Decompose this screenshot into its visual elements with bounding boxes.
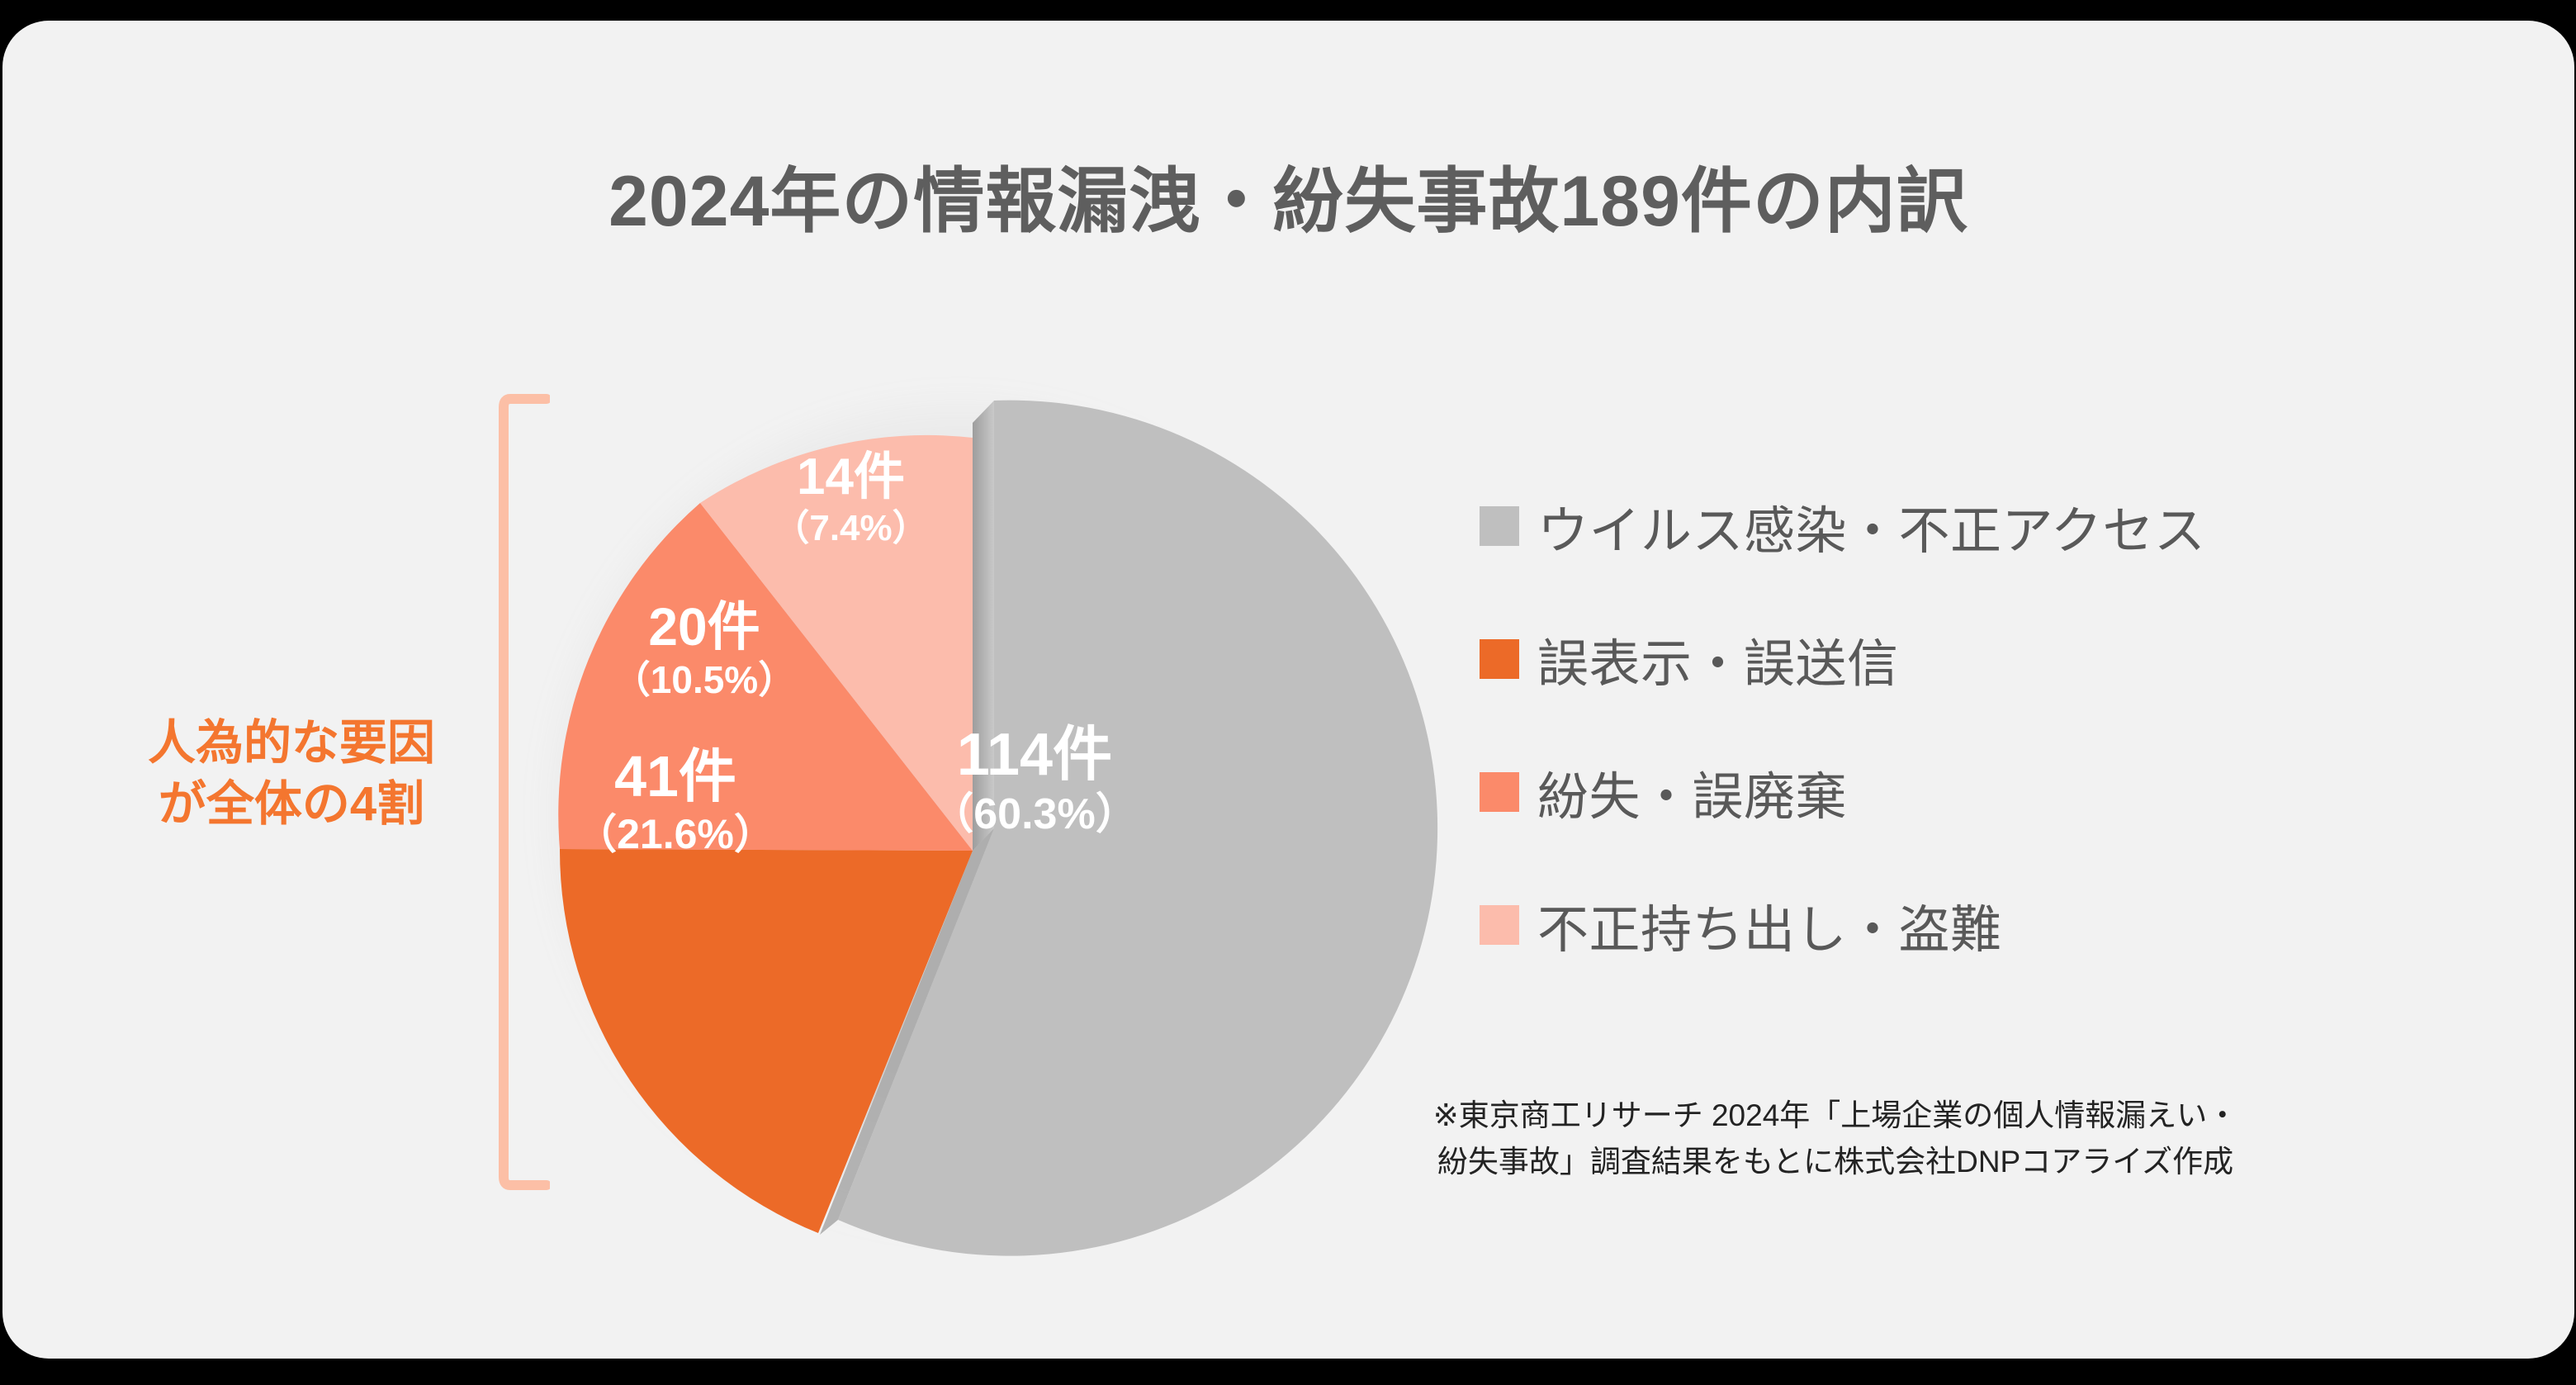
page-title: 2024年の情報漏洩・紛失事故189件の内訳: [2, 143, 2574, 246]
pie-label-virus-pct: （60.3%）: [907, 793, 1163, 836]
legend-label-misdirect: 誤表示・誤送信: [1537, 622, 1899, 696]
grouping-bracket-icon: [499, 394, 550, 1190]
legend-item-loss[interactable]: 紛失・誤廃棄: [1480, 767, 2454, 817]
pie-label-loss: 20件 （10.5%）: [580, 600, 828, 699]
legend-item-virus[interactable]: ウイルス感染・不正アクセス: [1480, 501, 2454, 551]
legend-swatch-icon-loss: [1480, 772, 1519, 812]
footnote-line-1: ※東京商工リサーチ 2024年「上場企業の個人情報漏えい・: [1324, 1093, 2347, 1139]
pie-label-loss-pct: （10.5%）: [580, 661, 828, 699]
legend: ウイルス感染・不正アクセス 誤表示・誤送信 紛失・誤廃棄 不正持ち出し・盗難: [1480, 501, 2454, 950]
legend-item-misdirect[interactable]: 誤表示・誤送信: [1480, 634, 2454, 684]
legend-item-theft[interactable]: 不正持ち出し・盗難: [1480, 900, 2454, 950]
source-footnote: ※東京商工リサーチ 2024年「上場企業の個人情報漏えい・ 紛失事故」調査結果を…: [1324, 1093, 2347, 1185]
annotation-line-1: 人為的な要因: [148, 716, 435, 770]
legend-swatch-icon-theft: [1480, 905, 1519, 945]
legend-label-theft: 不正持ち出し・盗難: [1537, 888, 2002, 962]
pie-label-virus-count: 114件: [907, 725, 1163, 785]
pie-chart: 114件 （60.3%） 41件 （21.6%） 20件 （10.5%） 14件…: [465, 334, 1456, 1334]
legend-label-loss: 紛失・誤廃棄: [1537, 755, 1847, 829]
legend-swatch-icon-virus: [1480, 506, 1519, 546]
pie-label-misdirect-count: 41件: [552, 747, 799, 805]
pie-label-virus: 114件 （60.3%）: [907, 725, 1163, 836]
legend-label-virus: ウイルス感染・不正アクセス: [1537, 489, 2205, 563]
legend-swatch-icon-misdirect: [1480, 639, 1519, 679]
pie-label-misdirect: 41件 （21.6%）: [552, 747, 799, 855]
footnote-line-2: 紛失事故」調査結果をもとに株式会社DNPコアライズ作成: [1324, 1139, 2347, 1185]
pie-label-theft: 14件 （7.4%）: [741, 452, 960, 547]
chart-card: 2024年の情報漏洩・紛失事故189件の内訳 114件: [2, 21, 2574, 1359]
pie-label-loss-count: 20件: [580, 600, 828, 653]
annotation-human-factor: 人為的な要因 が全体の4割: [118, 713, 465, 835]
pie-label-theft-count: 14件: [741, 452, 960, 503]
annotation-line-2: が全体の4割: [159, 777, 424, 831]
pie-label-theft-pct: （7.4%）: [741, 510, 960, 547]
pie-label-misdirect-pct: （21.6%）: [552, 813, 799, 855]
